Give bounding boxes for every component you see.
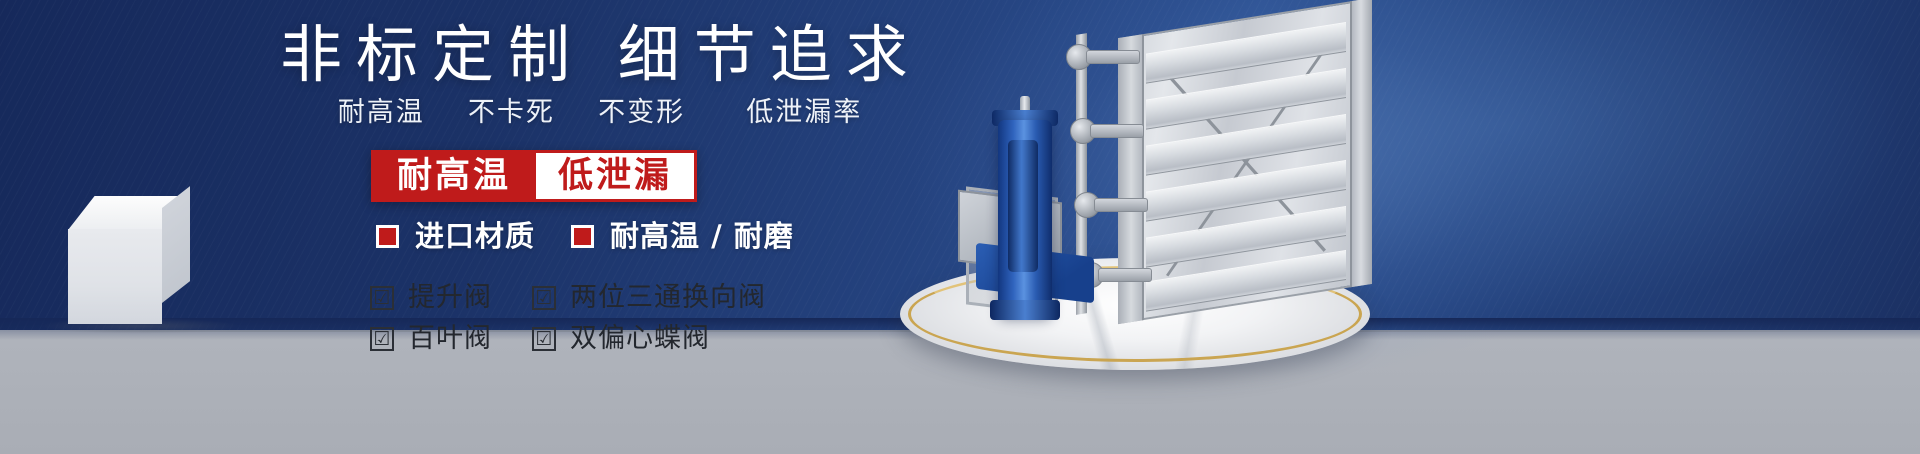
- checkbox-checked-icon: ☑: [370, 286, 394, 310]
- badge-secondary-label: 低泄漏: [533, 150, 697, 202]
- product-image: [880, 0, 1560, 420]
- feature-item: 进口材质: [376, 222, 535, 251]
- subheadline-part-4: 低泄漏率: [746, 97, 862, 128]
- feature-label: 进口材质: [415, 222, 535, 251]
- checkbox-checked-icon: ☑: [532, 327, 556, 351]
- cylinder-inner-tube: [1008, 140, 1038, 272]
- cube-front-face: [68, 229, 162, 324]
- red-square-icon: [571, 225, 594, 248]
- checklist-item: ☑ 提升阀: [370, 284, 492, 311]
- damper-housing: [1118, 0, 1372, 324]
- checklist-item: ☑ 百叶阀: [370, 325, 492, 352]
- actuator-arm: [1086, 50, 1140, 64]
- white-cube-graphic: [68, 196, 190, 324]
- cylinder-bottom-cap: [990, 300, 1060, 320]
- damper-right-frame: [1350, 0, 1372, 287]
- actuator-arm: [1098, 268, 1152, 282]
- checklist-label: 双偏心蝶阀: [570, 325, 710, 352]
- subheadline: 耐高温 不卡死 不变形 低泄漏率: [300, 95, 900, 131]
- checklist-label: 两位三通换向阀: [570, 284, 766, 311]
- subheadline-part-3: 不变形: [598, 97, 685, 128]
- headline: 非标定制 细节追求: [280, 14, 900, 96]
- feature-item: 耐高温 / 耐磨: [571, 222, 794, 251]
- promo-banner: 非标定制 细节追求 耐高温 不卡死 不变形 低泄漏率 耐高温 低泄漏 进口材质 …: [0, 0, 1920, 454]
- actuator-arm: [1090, 124, 1144, 138]
- subheadline-part-1: 耐高温: [338, 97, 425, 128]
- checklist-label: 百叶阀: [408, 325, 492, 352]
- checklist-label: 提升阀: [408, 284, 492, 311]
- feature-label: 耐高温 / 耐磨: [610, 222, 794, 251]
- checkbox-checked-icon: ☑: [370, 327, 394, 351]
- red-square-icon: [376, 225, 399, 248]
- cube-side-face: [162, 186, 190, 303]
- checklist-item: ☑ 两位三通换向阀: [532, 284, 766, 311]
- actuator-arm: [1094, 198, 1148, 212]
- highlight-badge: 耐高温 低泄漏: [371, 150, 697, 202]
- checkbox-checked-icon: ☑: [532, 286, 556, 310]
- feature-list: 进口材质 耐高温 / 耐磨: [376, 222, 794, 251]
- product-checklist: ☑ 提升阀 ☑ 两位三通换向阀 ☑ 百叶阀 ☑ 双偏心蝶阀: [370, 284, 766, 352]
- badge-primary-label: 耐高温: [371, 150, 533, 202]
- subheadline-part-2: 不卡死: [468, 97, 555, 128]
- checklist-item: ☑ 双偏心蝶阀: [532, 325, 766, 352]
